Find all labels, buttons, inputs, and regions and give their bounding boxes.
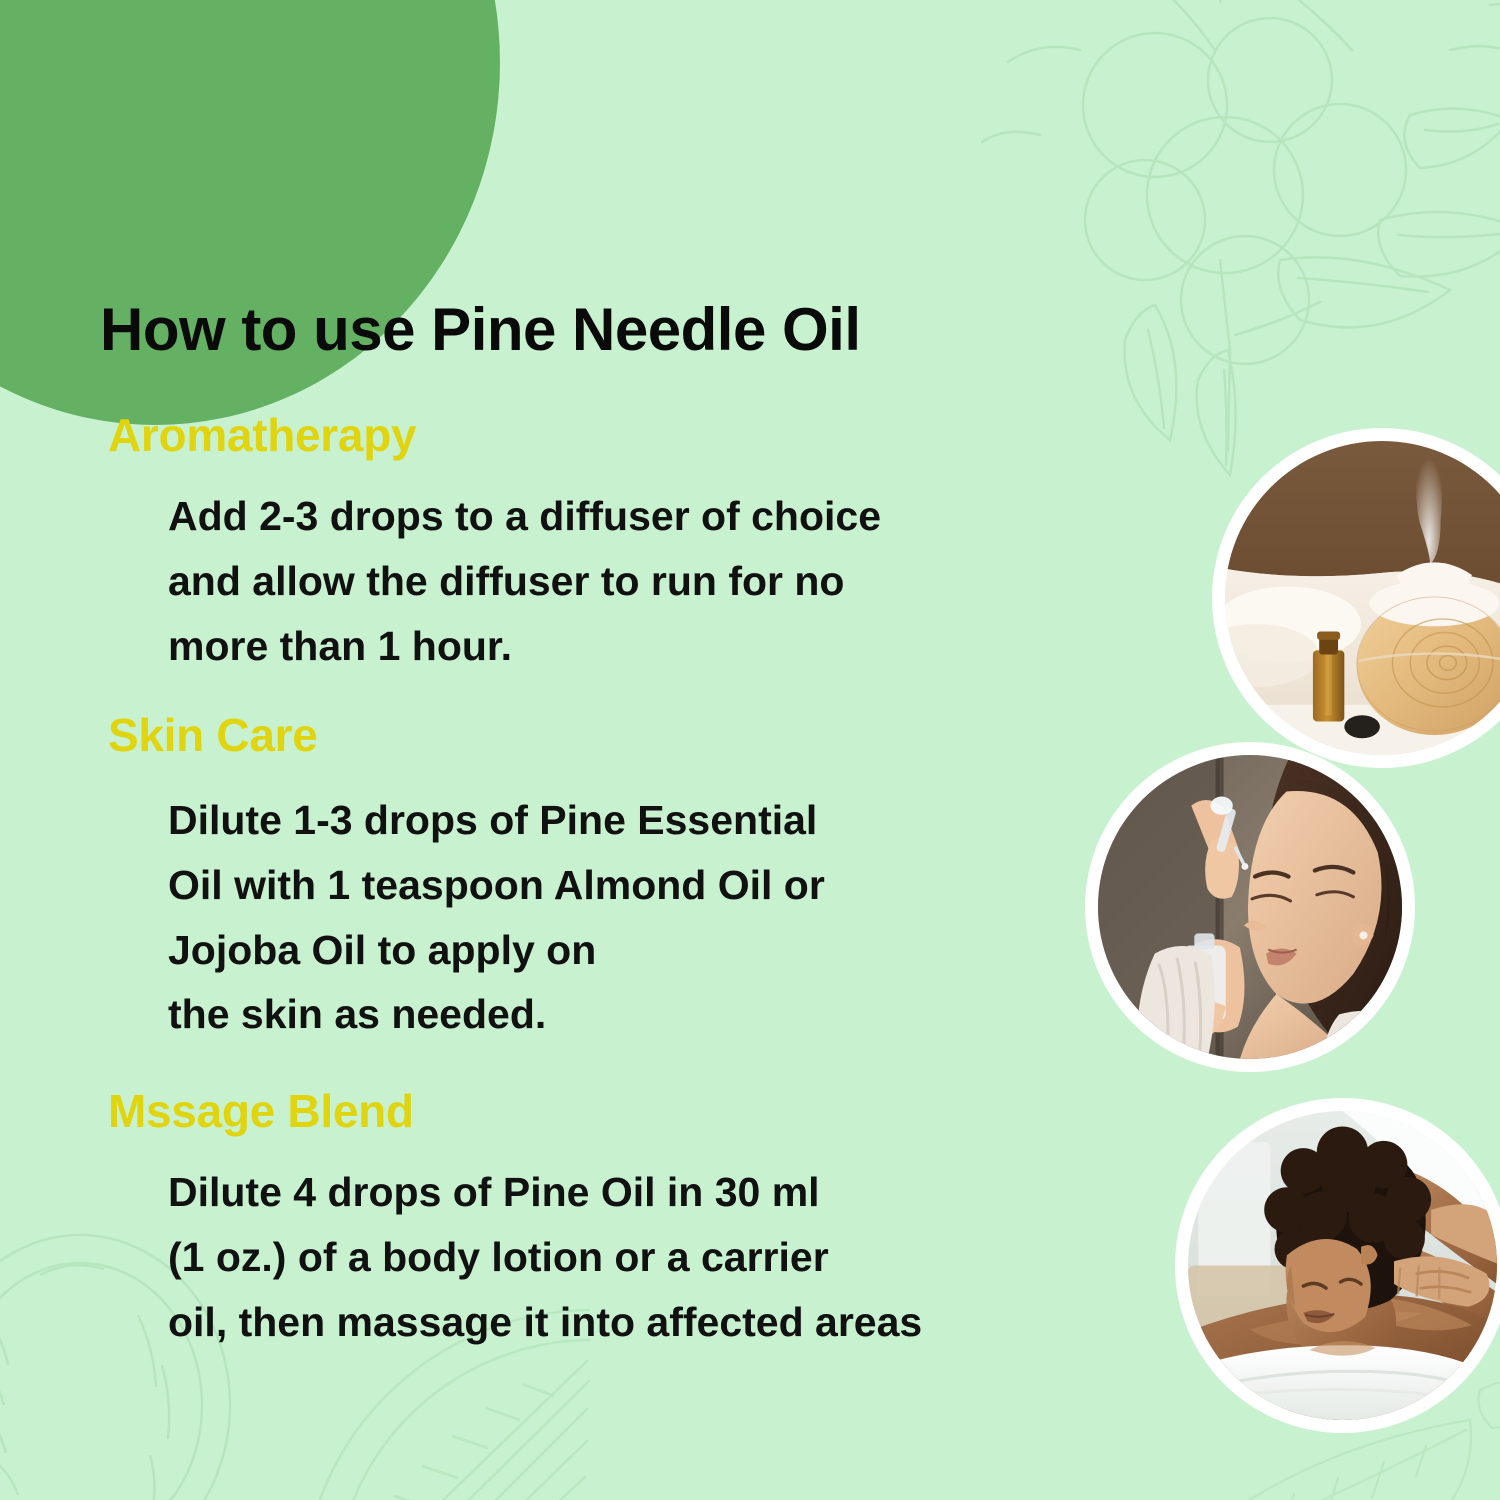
section-heading-massage-blend: Mssage Blend [108, 1088, 414, 1134]
aromatherapy-diffuser-photo [1225, 441, 1500, 755]
section-body-aromatherapy: Add 2-3 drops to a diffuser of choice an… [168, 484, 881, 678]
photo-circle-aromatherapy [1212, 428, 1500, 768]
section-heading-skin-care: Skin Care [108, 712, 318, 758]
photo-circle-massage [1175, 1098, 1500, 1433]
section-body-skin-care: Dilute 1-3 drops of Pine Essential Oil w… [168, 788, 825, 1047]
photo-circle-skin-care [1085, 742, 1415, 1072]
section-heading-aromatherapy: Aromatherapy [108, 412, 416, 458]
botanical-berries-line-art-icon [980, 0, 1500, 490]
infographic-poster: How to use Pine Needle Oil Aromatherapy … [0, 0, 1500, 1500]
skin-care-serum-photo [1098, 755, 1402, 1059]
page-title: How to use Pine Needle Oil [100, 298, 861, 361]
massage-blend-photo [1188, 1111, 1497, 1420]
section-body-massage-blend: Dilute 4 drops of Pine Oil in 30 ml (1 o… [168, 1160, 922, 1354]
